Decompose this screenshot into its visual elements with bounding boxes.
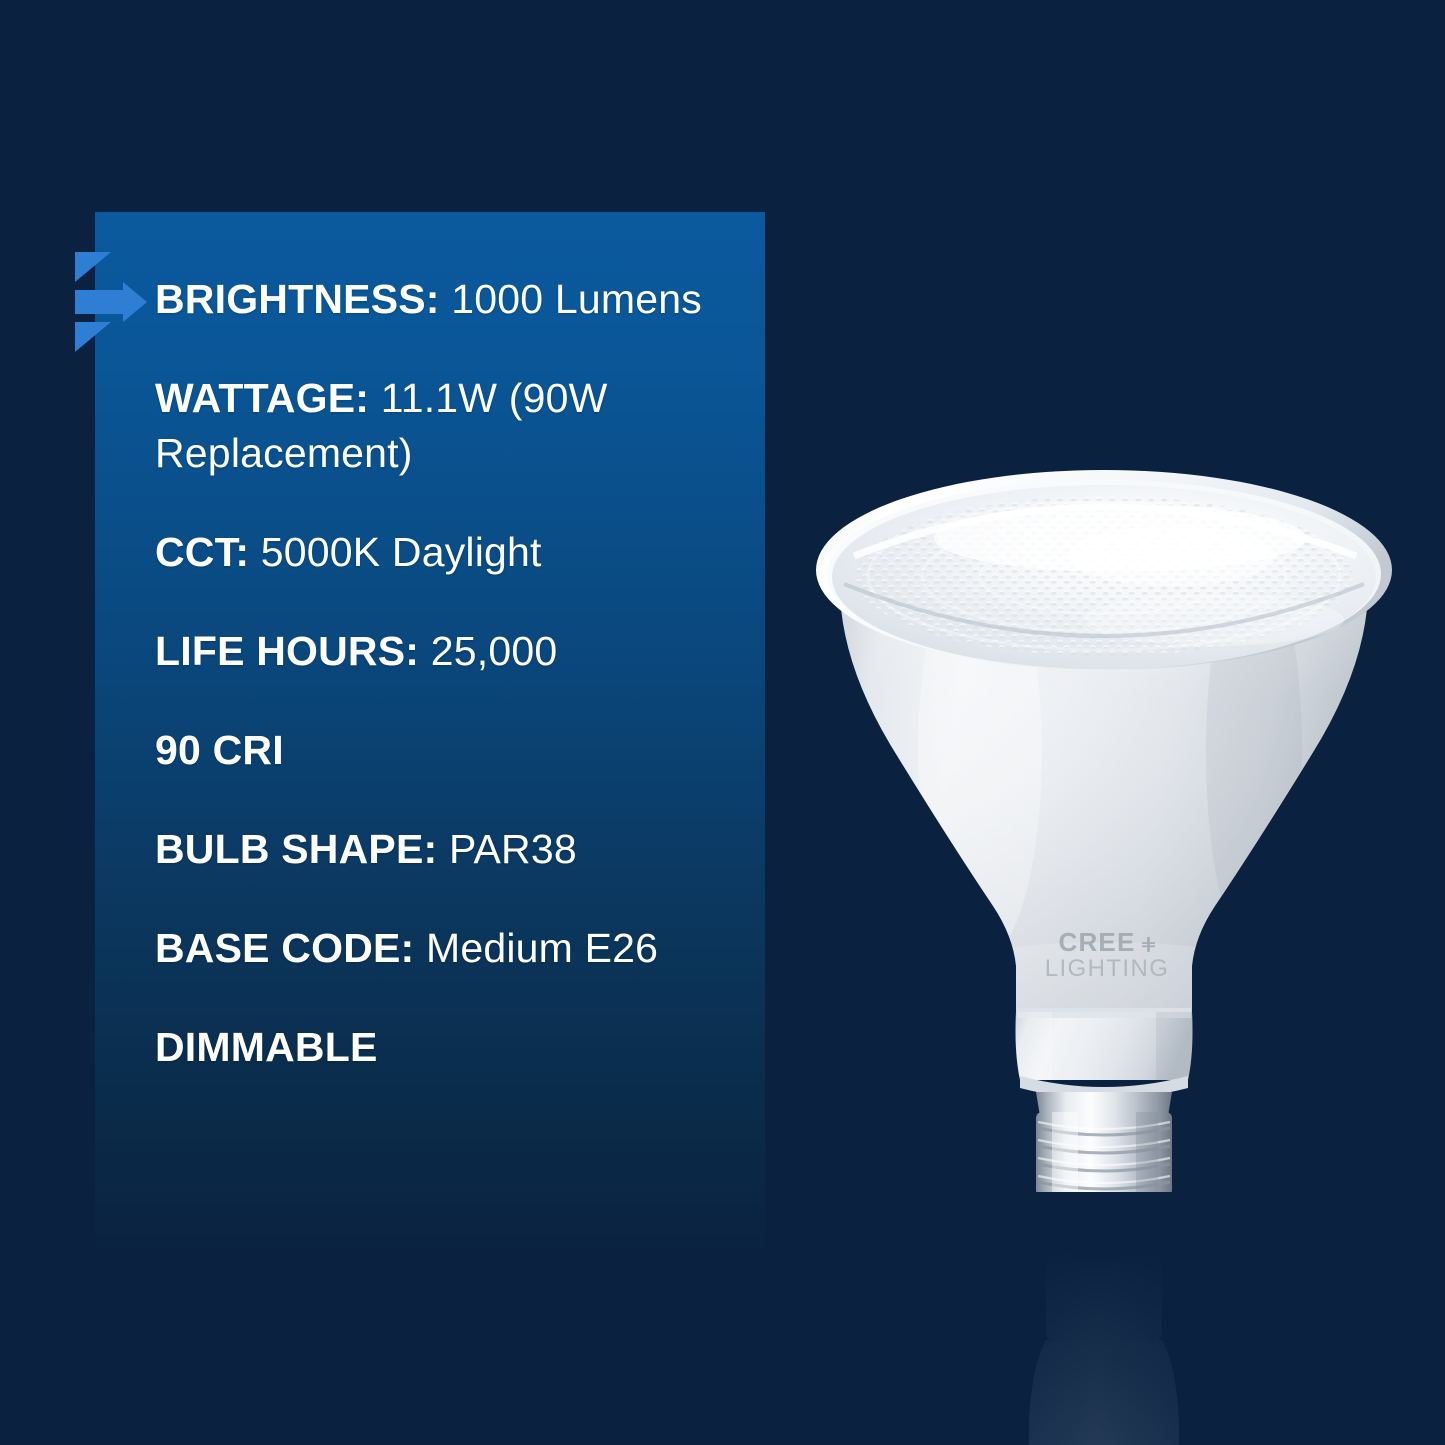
spec-row-life-hours: LIFE HOURS: 25,000	[155, 624, 745, 679]
brand-name-lighting: LIGHTING	[1007, 955, 1207, 983]
spec-label-cct: CCT:	[155, 529, 249, 575]
spec-value-base-code: Medium E26	[414, 925, 658, 971]
spec-label-brightness: BRIGHTNESS:	[155, 276, 440, 322]
bulb-reflection	[784, 1160, 1424, 1445]
spec-label-bulb-shape: BULB SHAPE:	[155, 826, 437, 872]
spec-label-dimmable: DIMMABLE	[155, 1024, 378, 1070]
triple-arrow-right-icon	[75, 252, 155, 358]
spec-row-base-code: BASE CODE: Medium E26	[155, 921, 745, 976]
spec-value-life-hours: 25,000	[419, 628, 557, 674]
spec-row-cri: 90 CRI	[155, 723, 745, 778]
spec-value-bulb-shape: PAR38	[437, 826, 576, 872]
spec-value-cct: 5000K Daylight	[249, 529, 541, 575]
spec-label-cri: 90 CRI	[155, 727, 284, 773]
spec-row-dimmable: DIMMABLE	[155, 1020, 745, 1075]
spec-list: BRIGHTNESS: 1000 Lumens WATTAGE: 11.1W (…	[155, 272, 745, 1074]
cree-logo-mark	[1141, 937, 1156, 952]
spec-panel: BRIGHTNESS: 1000 Lumens WATTAGE: 11.1W (…	[95, 212, 765, 1257]
product-infographic: BRIGHTNESS: 1000 Lumens WATTAGE: 11.1W (…	[0, 0, 1445, 1445]
spec-value-brightness: 1000 Lumens	[440, 276, 702, 322]
spec-row-wattage: WATTAGE: 11.1W (90W Replacement)	[155, 371, 745, 481]
brand-cree-text: CREE	[1058, 927, 1135, 957]
spec-row-bulb-shape: BULB SHAPE: PAR38	[155, 822, 745, 877]
spec-label-wattage: WATTAGE:	[155, 375, 369, 421]
spec-row-brightness: BRIGHTNESS: 1000 Lumens	[155, 272, 745, 327]
bulb-e26-base	[1036, 1092, 1172, 1192]
spec-label-life-hours: LIFE HOURS:	[155, 628, 419, 674]
brand-name-cree: CREE	[1007, 927, 1207, 958]
par38-bulb-image	[784, 452, 1424, 1192]
spec-row-cct: CCT: 5000K Daylight	[155, 525, 745, 580]
spec-label-base-code: BASE CODE:	[155, 925, 414, 971]
